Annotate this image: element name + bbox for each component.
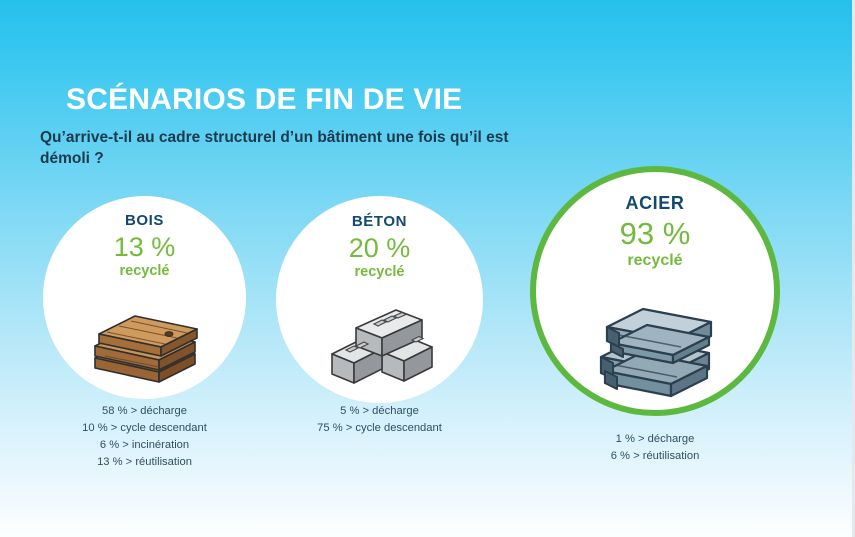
material-name-acier: ACIER <box>530 194 780 212</box>
material-recycled-label-acier: recyclé <box>530 253 780 269</box>
material-stats-acier: 1 % > décharge 6 % > réutilisation <box>530 431 780 465</box>
stat-line: 6 % > réutilisation <box>530 448 780 465</box>
material-card-acier[interactable]: ACIER 93 % recyclé <box>530 166 780 416</box>
material-recycled-label-bois: recyclé <box>43 264 246 279</box>
material-icon-wrap-beton <box>276 304 483 386</box>
stat-line: 5 % > décharge <box>276 403 483 420</box>
material-stats-beton: 5 % > décharge 75 % > cycle descendant <box>276 403 483 437</box>
material-recycled-label-beton: recyclé <box>276 265 483 280</box>
material-percent-acier: 93 % <box>530 216 780 252</box>
material-stats-bois: 58 % > décharge 10 % > cycle descendant … <box>43 403 246 471</box>
page-subtitle: Qu’arrive-t-il au cadre structurel d’un … <box>40 128 510 169</box>
material-name-bois: BOIS <box>43 213 246 228</box>
material-percent-bois: 13 % <box>43 232 246 263</box>
page-title: SCÉNARIOS DE FIN DE VIE <box>66 85 462 115</box>
stat-line: 13 % > réutilisation <box>43 454 246 471</box>
infographic-poster: SCÉNARIOS DE FIN DE VIE Qu’arrive-t-il a… <box>0 0 855 537</box>
material-card-beton[interactable]: BÉTON 20 % recyclé <box>276 196 483 403</box>
material-label-group-bois: BOIS 13 % recyclé <box>43 213 246 279</box>
stat-line: 75 % > cycle descendant <box>276 420 483 437</box>
material-icon-wrap-bois <box>43 304 246 384</box>
stat-line: 10 % > cycle descendant <box>43 420 246 437</box>
stat-line: 6 % > incinération <box>43 437 246 454</box>
material-card-bois[interactable]: BOIS 13 % recyclé <box>43 196 246 399</box>
material-name-beton: BÉTON <box>276 214 483 229</box>
material-label-group-acier: ACIER 93 % recyclé <box>530 194 780 269</box>
concrete-blocks-icon <box>324 306 436 386</box>
stat-line: 1 % > décharge <box>530 431 780 448</box>
material-label-group-beton: BÉTON 20 % recyclé <box>276 214 483 280</box>
material-percent-beton: 20 % <box>276 233 483 264</box>
wood-planks-icon <box>85 306 205 384</box>
steel-beams-icon <box>591 295 719 399</box>
material-icon-wrap-acier <box>530 294 780 399</box>
stat-line: 58 % > décharge <box>43 403 246 420</box>
